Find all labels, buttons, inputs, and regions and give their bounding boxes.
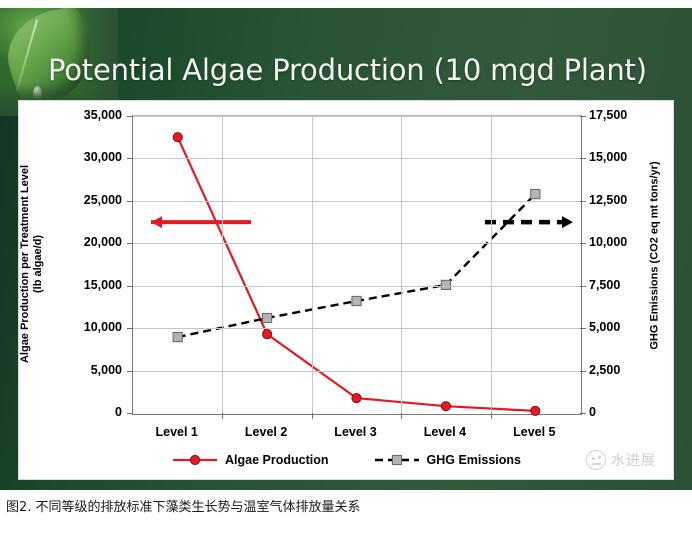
data-point-marker: [173, 133, 182, 142]
data-point-marker: [531, 190, 540, 199]
left-axis-tick-label: 35,000: [84, 110, 122, 120]
left-axis-tick: [127, 413, 133, 414]
data-point-marker: [263, 330, 272, 339]
legend-item-ghg-emissions[interactable]: GHG Emissions: [373, 453, 521, 467]
gridline-horizontal: [133, 328, 581, 329]
series-line-ghg-emissions: [178, 194, 536, 337]
right-axis-tick-label: 17,500: [589, 110, 627, 120]
right-axis-tick-label: 2,500: [589, 365, 620, 375]
plot-area: [132, 115, 582, 415]
plot-wrapper: Algae Production per Treatment Level (lb…: [19, 101, 673, 479]
right-arrow-annotation: [485, 216, 573, 228]
slide-title: Potential Algae Production (10 mgd Plant…: [48, 53, 678, 97]
left-axis-tick: [127, 116, 133, 117]
right-axis-tick: [580, 371, 586, 372]
left-axis-tick-label: 15,000: [84, 280, 122, 290]
x-axis-tick: [401, 413, 402, 419]
left-arrow-annotation: [151, 216, 251, 228]
left-axis-tick: [127, 243, 133, 244]
legend-label: Algae Production: [225, 453, 328, 467]
x-axis-tick-label: Level 2: [245, 425, 287, 439]
chart-panel: Algae Production per Treatment Level (lb…: [18, 100, 674, 480]
gridline-horizontal: [133, 286, 581, 287]
series-layer: [133, 116, 580, 413]
x-axis-tick: [491, 413, 492, 419]
left-axis-tick: [127, 286, 133, 287]
data-point-marker: [173, 333, 182, 342]
left-axis-tick-label: 5,000: [91, 365, 122, 375]
left-axis-tick-label: 20,000: [84, 237, 122, 247]
right-axis-tick: [580, 286, 586, 287]
right-axis-tick-label: 12,500: [589, 195, 627, 205]
x-axis-tick-label: Level 5: [513, 425, 555, 439]
chart-legend: Algae ProductionGHG Emissions: [19, 449, 673, 471]
left-axis-tick-label: 30,000: [84, 152, 122, 162]
watermark-text: 水进展: [611, 450, 656, 470]
gridline-vertical: [222, 116, 223, 414]
page-root: Potential Algae Production (10 mgd Plant…: [0, 0, 692, 533]
gridline-horizontal: [133, 201, 581, 202]
right-axis-tick-label: 5,000: [589, 322, 620, 332]
data-point-marker: [441, 402, 450, 411]
gridline-horizontal: [133, 116, 581, 117]
right-axis-tick: [580, 158, 586, 159]
right-axis-tick-label: 15,000: [589, 152, 627, 162]
gridline-vertical: [401, 116, 402, 414]
slide-container: Potential Algae Production (10 mgd Plant…: [0, 8, 692, 490]
watermark: 水进展: [586, 443, 682, 477]
gridline-horizontal: [133, 158, 581, 159]
right-axis-tick-label: 0: [589, 407, 596, 417]
x-axis-tick-label: Level 3: [334, 425, 376, 439]
gridline-vertical: [491, 116, 492, 414]
data-point-marker: [263, 313, 272, 322]
left-axis-tick: [127, 371, 133, 372]
right-axis-tick: [580, 328, 586, 329]
left-axis-tick-labels: 05,00010,00015,00020,00025,00030,00035,0…: [19, 101, 122, 421]
right-axis-tick: [580, 413, 586, 414]
data-point-marker: [352, 296, 361, 305]
circle-logo-icon: [586, 450, 606, 470]
right-axis-tick-label: 7,500: [589, 280, 620, 290]
right-axis-tick: [580, 201, 586, 202]
x-axis-tick-labels: Level 1Level 2Level 3Level 4Level 5: [132, 423, 582, 443]
left-axis-tick-label: 25,000: [84, 195, 122, 205]
legend-swatch-icon: [373, 453, 421, 467]
left-axis-tick-label: 0: [115, 407, 122, 417]
left-axis-tick: [127, 201, 133, 202]
right-axis-tick-label: 10,000: [589, 237, 627, 247]
left-axis-tick: [127, 158, 133, 159]
right-axis-tick: [580, 116, 586, 117]
left-axis-tick: [127, 328, 133, 329]
right-axis-tick-labels: 02,5005,0007,50010,00012,50015,00017,500: [589, 101, 669, 421]
x-axis-tick: [222, 413, 223, 419]
gridline-vertical: [312, 116, 313, 414]
right-axis-tick: [580, 243, 586, 244]
data-point-marker: [352, 394, 361, 403]
gridline-horizontal: [133, 371, 581, 372]
x-axis-tick: [312, 413, 313, 419]
legend-swatch-icon: [171, 453, 219, 467]
left-axis-tick-label: 10,000: [84, 322, 122, 332]
x-axis-tick-label: Level 4: [424, 425, 466, 439]
x-axis-tick-label: Level 1: [155, 425, 197, 439]
figure-caption: 图2. 不同等级的排放标准下藻类生长势与温室气体排放量关系: [6, 496, 686, 515]
legend-label: GHG Emissions: [427, 453, 521, 467]
data-point-marker: [531, 406, 540, 415]
legend-item-algae-production[interactable]: Algae Production: [171, 453, 328, 467]
gridline-horizontal: [133, 243, 581, 244]
